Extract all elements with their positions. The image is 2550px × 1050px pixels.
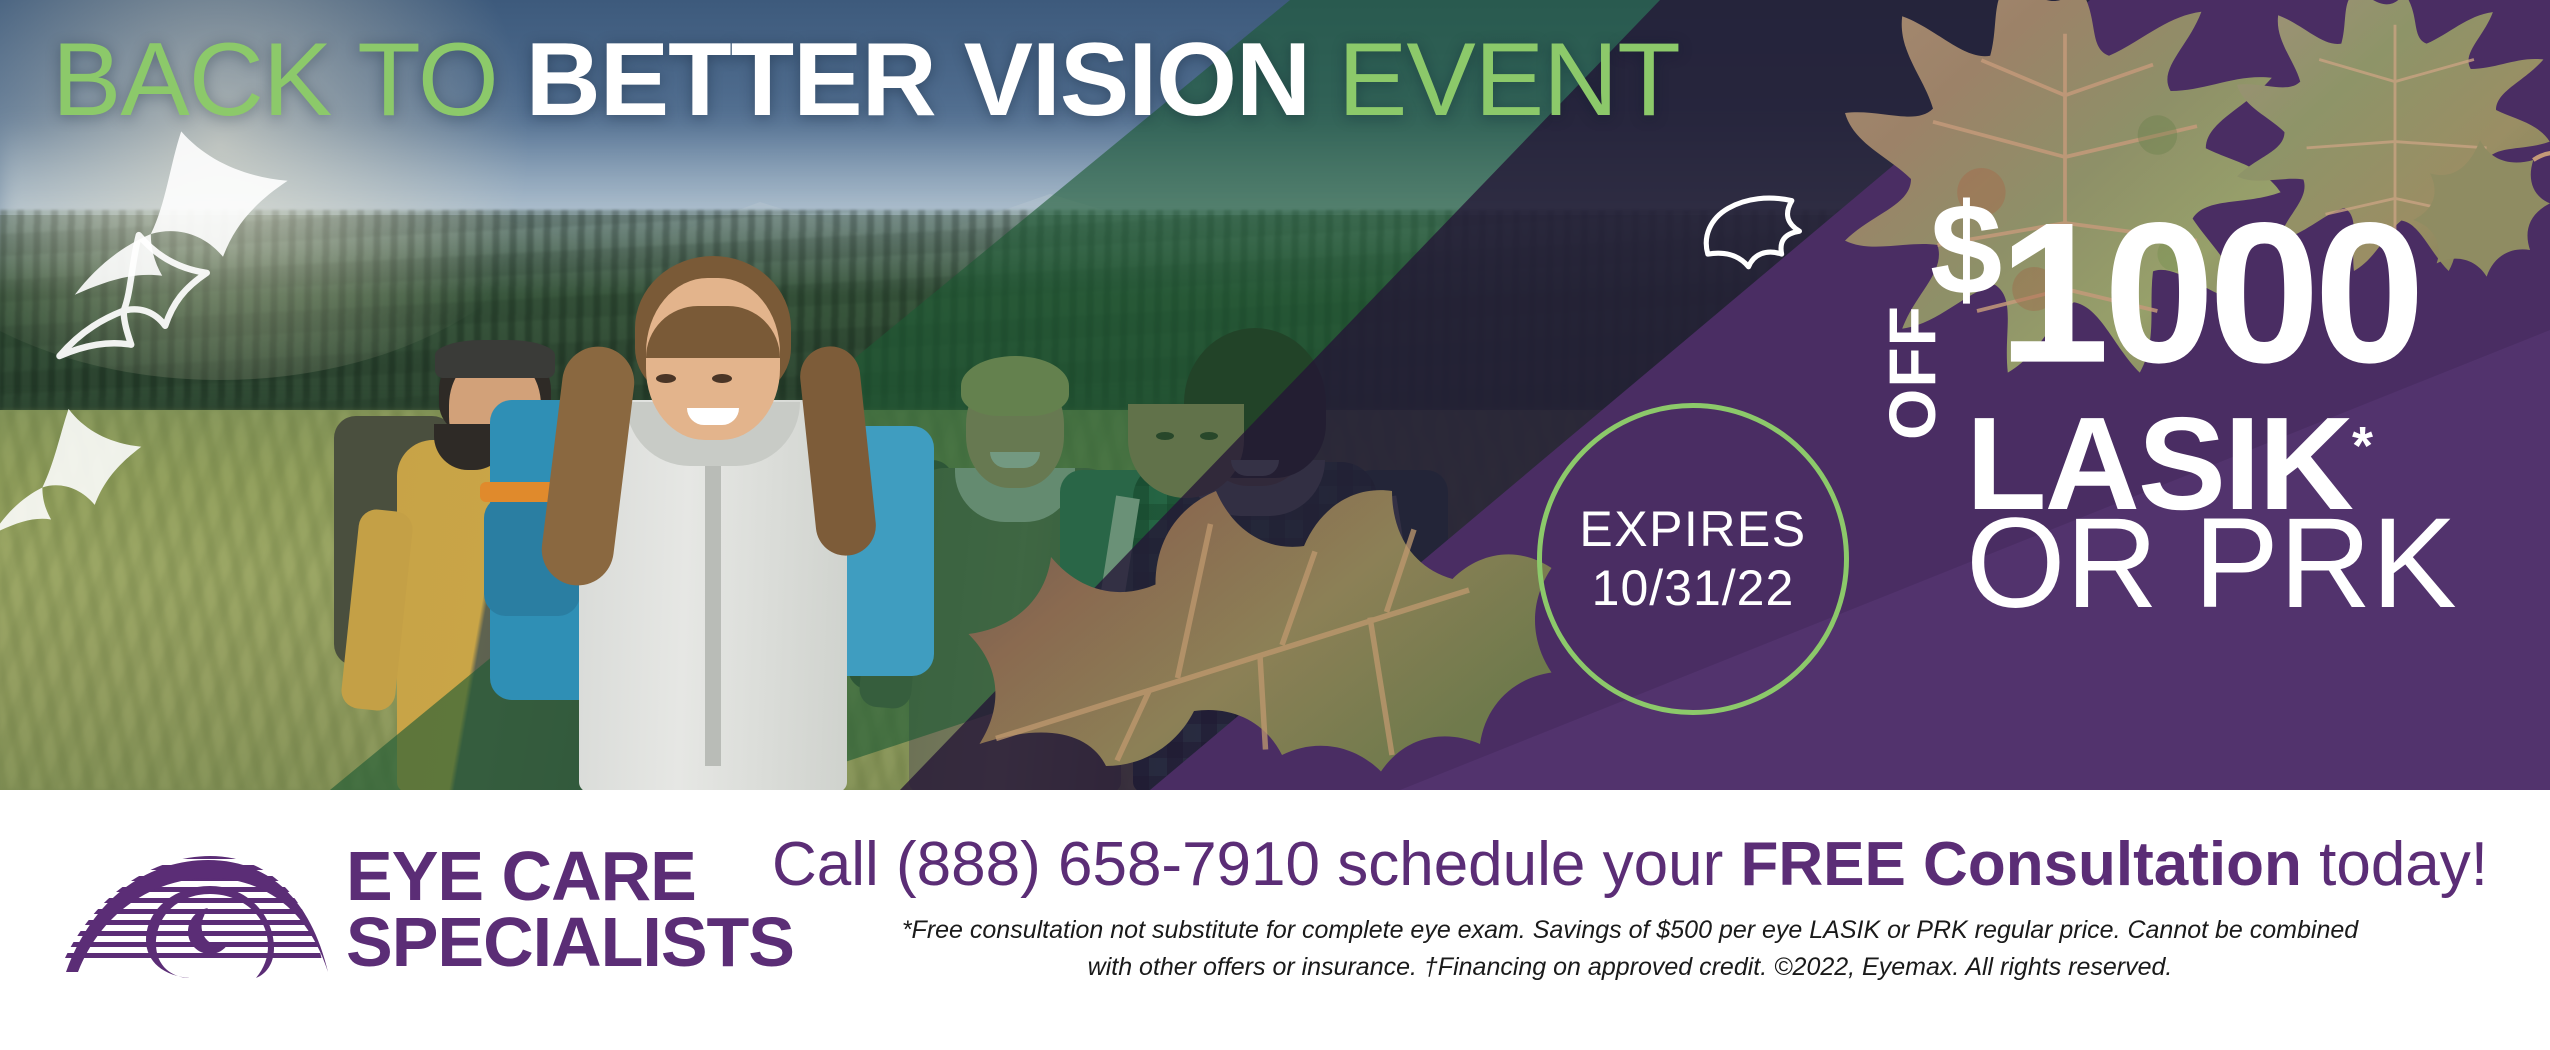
disclaimer-line-1: *Free consultation not substitute for co… [760, 912, 2500, 949]
brand-line-1: EYE CARE [346, 844, 794, 910]
legal-disclaimer: *Free consultation not substitute for co… [760, 912, 2500, 986]
oak-leaf-icon [950, 480, 1570, 790]
headline-part-3: EVENT [1338, 22, 1680, 138]
expiration-badge: EXPIRES 10/31/22 [1537, 403, 1849, 715]
headline-part-2: BETTER VISION [526, 22, 1310, 138]
offer-procedure-secondary: OR PRK [1966, 500, 2457, 628]
cta-suffix: today! [2302, 830, 2488, 899]
offer-block: $1000 OFF LASIK* OR PRK [1870, 190, 2550, 690]
amount-value: 1000 [1998, 182, 2419, 405]
footer-section: EYE CARE SPECIALISTS Call (888) 658-7910… [0, 790, 2550, 1050]
cta-highlight: FREE Consultation [1740, 830, 2301, 899]
page-title: BACK TO BETTER VISION EVENT [52, 28, 1680, 132]
eye-logo-icon [60, 848, 340, 978]
promotional-banner: BACK TO BETTER VISION EVENT EXPIRES 10/3… [0, 0, 2550, 1050]
offer-amount: $1000 [1930, 190, 2419, 386]
brand-logo[interactable]: EYE CARE SPECIALISTS [60, 838, 700, 988]
headline-part-1: BACK TO [52, 22, 498, 138]
brand-name: EYE CARE SPECIALISTS [346, 844, 794, 976]
cta-prefix: Call (888) 658-7910 schedule your [772, 830, 1740, 899]
disclaimer-line-2: with other offers or insurance. †Financi… [760, 949, 2500, 986]
brand-line-2: SPECIALISTS [346, 910, 794, 976]
call-to-action[interactable]: Call (888) 658-7910 schedule your FREE C… [760, 830, 2500, 899]
asterisk-marker: * [2352, 416, 2371, 476]
leaf-outline-icon [1690, 180, 1830, 290]
offer-off-label: OFF [1874, 305, 1950, 440]
leaf-outline-icon [70, 120, 300, 310]
leaf-outline-icon [0, 400, 150, 540]
currency-symbol: $ [1930, 176, 1998, 322]
hiker-2-main [498, 250, 928, 790]
expiration-label: EXPIRES [1579, 500, 1806, 559]
expiration-date: 10/31/22 [1592, 559, 1795, 618]
hero-section: BACK TO BETTER VISION EVENT EXPIRES 10/3… [0, 0, 2550, 790]
